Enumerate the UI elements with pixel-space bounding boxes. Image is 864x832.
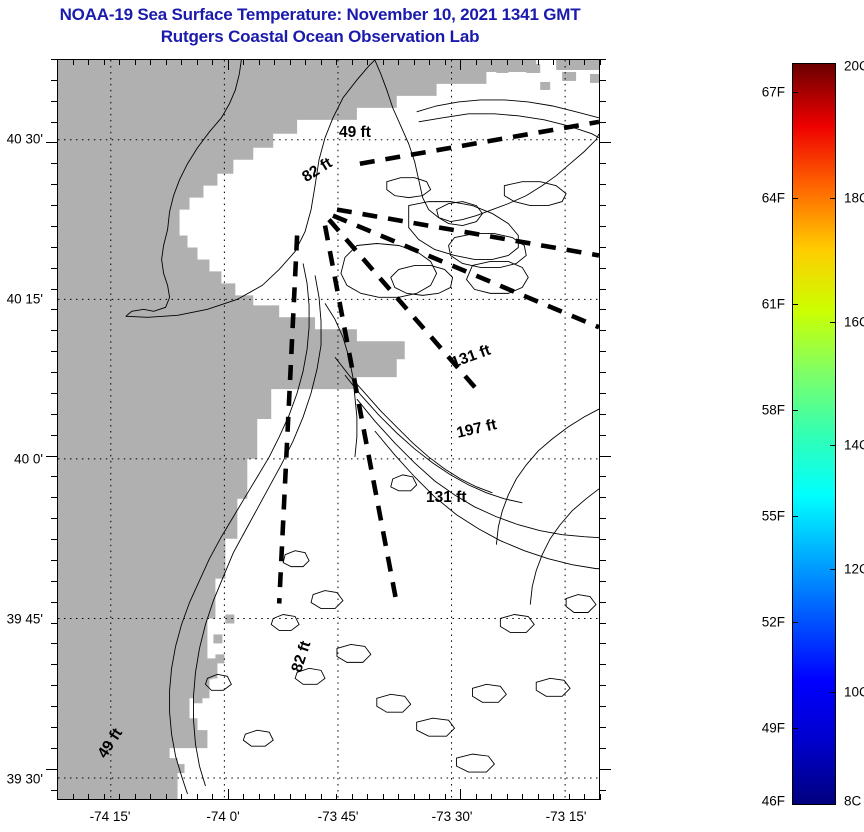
- x-tick: [569, 794, 570, 800]
- x-tick: [243, 794, 244, 800]
- y-tick: [600, 706, 606, 707]
- colorbar-label-c: 16C: [844, 315, 864, 330]
- x-tick: [584, 59, 585, 65]
- x-tick: [476, 794, 477, 800]
- x-tick: [445, 59, 446, 65]
- x-tick: [73, 59, 74, 65]
- x-tick: [135, 59, 136, 65]
- y-tick: [600, 163, 606, 164]
- x-tick: [352, 59, 353, 65]
- y-tick: [600, 59, 606, 60]
- sst-map-figure: NOAA-19 Sea Surface Temperature: Novembe…: [0, 0, 864, 832]
- x-tick: [197, 794, 198, 800]
- x-axis-label: -73 45': [318, 809, 359, 824]
- colorbar-label-c: 18C: [844, 191, 864, 206]
- colorbar-label-f: 46F: [740, 794, 785, 809]
- x-tick: [429, 59, 430, 65]
- colorbar-tick: [792, 516, 798, 517]
- y-tick: [600, 122, 606, 123]
- x-tick: [274, 794, 275, 800]
- x-tick: [460, 59, 461, 70]
- colorbar-label-f: 58F: [740, 403, 785, 418]
- x-tick: [538, 59, 539, 65]
- depth-label-49-ft: 49 ft: [339, 124, 371, 142]
- y-tick: [600, 560, 606, 561]
- y-tick: [46, 142, 57, 143]
- y-axis-right-ticks: [600, 59, 601, 800]
- x-tick: [88, 59, 89, 65]
- y-tick: [51, 539, 57, 540]
- y-tick: [600, 289, 606, 290]
- y-tick: [600, 790, 606, 791]
- y-tick: [600, 581, 606, 582]
- x-tick: [414, 59, 415, 65]
- x-axis-label: -74 15': [90, 809, 131, 824]
- y-axis-label: 40 0': [0, 452, 43, 467]
- y-tick: [51, 393, 57, 394]
- x-tick: [150, 794, 151, 800]
- y-tick: [51, 476, 57, 477]
- y-tick: [600, 727, 606, 728]
- colorbar-tick: [830, 322, 836, 323]
- x-tick: [336, 59, 337, 65]
- depth-label-131-ft: 131 ft: [426, 489, 467, 507]
- colorbar-tick: [830, 569, 836, 570]
- x-tick: [321, 794, 322, 800]
- x-tick: [104, 59, 105, 65]
- colorbar-label-c: 20C: [844, 59, 864, 74]
- y-tick: [51, 80, 57, 81]
- x-axis-label: -74 0': [206, 809, 239, 824]
- x-tick: [243, 59, 244, 65]
- y-tick: [51, 623, 57, 624]
- x-tick: [181, 794, 182, 800]
- x-axis-label: -73 30': [432, 809, 473, 824]
- x-tick: [398, 59, 399, 65]
- x-tick: [228, 789, 229, 800]
- temperature-colorbar[interactable]: [792, 63, 836, 805]
- x-tick: [522, 794, 523, 800]
- y-tick: [600, 268, 606, 269]
- y-tick: [51, 330, 57, 331]
- y-tick: [600, 414, 606, 415]
- y-tick: [51, 435, 57, 436]
- y-axis-left-ticks: [57, 59, 58, 800]
- x-tick: [274, 59, 275, 65]
- colorbar-tick: [792, 198, 798, 199]
- x-tick: [228, 59, 229, 70]
- y-tick: [600, 142, 611, 143]
- x-tick: [429, 794, 430, 800]
- y-tick: [51, 685, 57, 686]
- y-tick: [51, 497, 57, 498]
- colorbar-tick: [830, 692, 836, 693]
- y-tick: [600, 101, 606, 102]
- y-tick: [600, 539, 606, 540]
- y-tick: [51, 414, 57, 415]
- x-tick: [166, 794, 167, 800]
- colorbar-tick: [792, 304, 798, 305]
- colorbar-label-f: 49F: [740, 721, 785, 736]
- x-tick: [259, 59, 260, 65]
- y-axis-label: 40 15': [0, 292, 43, 307]
- colorbar-label-c: 10C: [844, 685, 864, 700]
- x-tick: [119, 59, 120, 65]
- y-tick: [51, 664, 57, 665]
- figure-title: NOAA-19 Sea Surface Temperature: Novembe…: [0, 4, 640, 48]
- colorbar-label-f: 67F: [740, 85, 785, 100]
- colorbar-label-f: 61F: [740, 297, 785, 312]
- colorbar-label-c: 12C: [844, 562, 864, 577]
- x-tick: [104, 794, 105, 800]
- colorbar-label-c: 8C: [844, 794, 861, 809]
- y-tick: [51, 163, 57, 164]
- y-tick: [51, 309, 57, 310]
- x-tick: [135, 794, 136, 800]
- colorbar-label-c: 14C: [844, 438, 864, 453]
- colorbar-tick: [792, 92, 798, 93]
- colorbar-tick: [792, 622, 798, 623]
- x-tick: [166, 59, 167, 65]
- x-tick: [383, 794, 384, 800]
- x-tick: [476, 59, 477, 65]
- y-tick: [51, 560, 57, 561]
- colorbar-gradient: [793, 64, 835, 804]
- x-tick: [507, 59, 508, 65]
- x-tick: [445, 794, 446, 800]
- y-tick: [51, 518, 57, 519]
- x-tick: [305, 794, 306, 800]
- x-tick: [522, 59, 523, 65]
- x-tick: [398, 794, 399, 800]
- y-tick: [51, 122, 57, 123]
- x-axis-bottom-ticks: [57, 800, 600, 801]
- y-axis-label: 40 30': [0, 132, 43, 147]
- x-tick: [538, 794, 539, 800]
- x-tick: [367, 59, 368, 65]
- y-tick: [600, 643, 606, 644]
- x-axis-label: -73 15': [546, 809, 587, 824]
- y-tick: [46, 456, 57, 457]
- x-tick: [367, 794, 368, 800]
- y-tick: [600, 476, 606, 477]
- y-tick: [600, 393, 606, 394]
- x-tick: [212, 59, 213, 65]
- y-tick: [51, 184, 57, 185]
- x-tick: [88, 794, 89, 800]
- y-tick: [51, 372, 57, 373]
- x-tick: [290, 794, 291, 800]
- x-tick: [181, 59, 182, 65]
- y-tick: [51, 602, 57, 603]
- x-tick: [352, 794, 353, 800]
- y-tick: [600, 685, 606, 686]
- x-axis-top-ticks: [57, 59, 600, 60]
- y-tick: [51, 268, 57, 269]
- y-tick: [51, 226, 57, 227]
- colorbar-tick: [830, 445, 836, 446]
- colorbar-tick: [792, 410, 798, 411]
- y-tick: [600, 184, 606, 185]
- colorbar-label-f: 55F: [740, 509, 785, 524]
- y-tick: [51, 59, 57, 60]
- y-tick: [600, 435, 606, 436]
- x-tick: [305, 59, 306, 65]
- title-line-1: NOAA-19 Sea Surface Temperature: Novembe…: [0, 4, 640, 26]
- y-tick: [600, 602, 606, 603]
- x-tick: [491, 59, 492, 65]
- colorbar-tick: [830, 198, 836, 199]
- y-tick: [51, 205, 57, 206]
- x-tick: [290, 59, 291, 65]
- y-tick: [600, 372, 606, 373]
- y-tick: [51, 101, 57, 102]
- y-tick: [51, 581, 57, 582]
- x-tick: [119, 794, 120, 800]
- y-tick: [600, 748, 606, 749]
- x-tick: [553, 794, 554, 800]
- x-tick: [569, 59, 570, 65]
- y-tick: [600, 247, 606, 248]
- x-tick: [553, 59, 554, 65]
- y-tick: [600, 769, 611, 770]
- y-tick: [46, 769, 57, 770]
- x-tick: [383, 59, 384, 65]
- y-tick: [51, 748, 57, 749]
- colorbar-label-f: 64F: [740, 191, 785, 206]
- y-tick: [600, 623, 606, 624]
- y-tick: [600, 497, 606, 498]
- x-tick: [321, 59, 322, 65]
- y-tick: [51, 727, 57, 728]
- y-tick: [51, 706, 57, 707]
- x-tick: [584, 794, 585, 800]
- x-tick: [150, 59, 151, 65]
- y-tick: [51, 289, 57, 290]
- y-tick: [600, 664, 606, 665]
- y-tick: [600, 330, 606, 331]
- y-tick: [51, 247, 57, 248]
- y-tick: [51, 351, 57, 352]
- y-axis-label: 39 45': [0, 612, 43, 627]
- colorbar-label-f: 52F: [740, 615, 785, 630]
- title-line-2: Rutgers Coastal Ocean Observation Lab: [0, 26, 640, 48]
- y-tick: [600, 456, 611, 457]
- y-axis-label: 39 30': [0, 772, 43, 787]
- x-tick: [259, 794, 260, 800]
- x-tick: [73, 794, 74, 800]
- y-tick: [600, 309, 606, 310]
- y-tick: [600, 205, 606, 206]
- y-tick: [51, 790, 57, 791]
- y-tick: [51, 643, 57, 644]
- x-tick: [414, 794, 415, 800]
- x-tick: [491, 794, 492, 800]
- x-tick: [460, 789, 461, 800]
- x-tick: [197, 59, 198, 65]
- x-tick: [212, 794, 213, 800]
- y-tick: [600, 518, 606, 519]
- y-tick: [600, 80, 606, 81]
- y-tick: [600, 351, 606, 352]
- x-tick: [507, 794, 508, 800]
- colorbar-tick: [792, 728, 798, 729]
- x-tick: [336, 794, 337, 800]
- y-tick: [600, 226, 606, 227]
